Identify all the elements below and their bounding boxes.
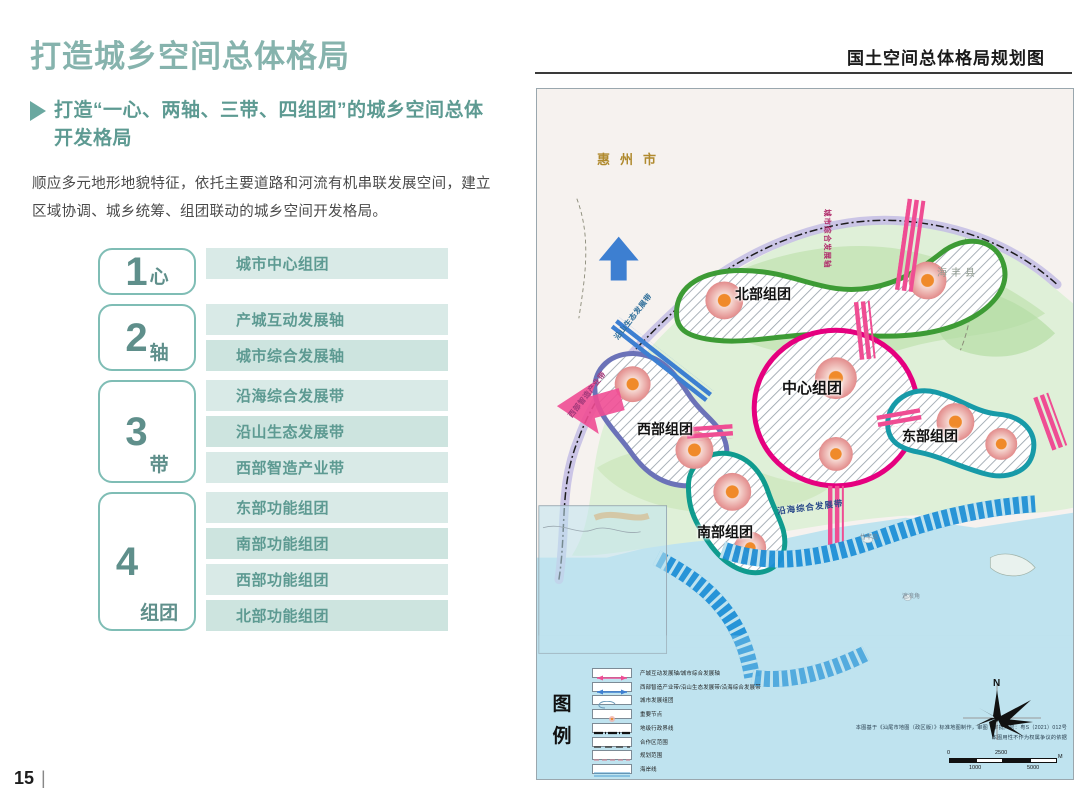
group-number: 2 <box>125 318 147 358</box>
scale-tick-5000: 5000 <box>1027 765 1039 771</box>
legend-label: 产城互动发展轴/城市综合发展轴 <box>640 669 720 677</box>
left-content-column: 打造城乡空间总体格局 打造“一心、两轴、三带、四组团”的城乡空间总体开发格局 顺… <box>0 0 530 810</box>
scale-bar-segment <box>1030 758 1057 763</box>
legend-row: 产城互动发展轴/城市综合发展轴 <box>592 666 870 680</box>
compass-rose-icon <box>945 678 1070 750</box>
body-paragraph: 顺应多元地形地貌特征，依托主要道路和河流有机串联发展空间，建立区域协调、城乡统筹… <box>32 170 497 227</box>
legend-label: 海岸线 <box>640 765 657 773</box>
group-row: 西部功能组团 <box>206 564 448 595</box>
pink-arrow-icon <box>593 674 631 682</box>
title-divider <box>535 72 1072 74</box>
black-dashdot-line-icon <box>593 729 631 737</box>
legend-row: 合作区范围 <box>592 735 870 749</box>
group-rows: 沿海综合发展带 沿山生态发展带 西部智造产业带 <box>206 380 448 483</box>
legend-swatch-group-outline <box>592 695 632 705</box>
group-rows: 产城互动发展轴 城市综合发展轴 <box>206 304 448 371</box>
group-rows: 城市中心组团 <box>206 248 448 295</box>
legend-row: 海岸线 <box>592 762 870 776</box>
group-row: 北部功能组团 <box>206 600 448 631</box>
group-number-box: 4 组团 <box>98 492 196 631</box>
group-unit: 带 <box>150 450 169 477</box>
group-item: 4 组团 东部功能组团 南部功能组团 西部功能组团 北部功能组团 <box>98 492 448 631</box>
scale-unit: M <box>1058 754 1063 760</box>
scale-tick-0: 0 <box>947 750 950 756</box>
legend-swatch-dash-gray <box>592 737 632 747</box>
group-unit: 心 <box>150 262 169 289</box>
scale-tick-1000: 1000 <box>969 765 981 771</box>
coastline-icon <box>593 770 631 778</box>
map-legend: 图 例 产城互动发展轴/城市综合发展轴 <box>540 660 870 782</box>
group-item: 2 轴 产城互动发展轴 城市综合发展轴 <box>98 304 448 371</box>
legend-row: 规划范围 <box>592 749 870 763</box>
compass-and-scale: N 0 2500 M 1000 5000 <box>945 678 1070 778</box>
legend-title: 图 例 <box>540 689 584 754</box>
legend-label: 地级行政界线 <box>640 724 674 732</box>
legend-items: 产城互动发展轴/城市综合发展轴 西部智造产业带/沿山生态发展带/沿海综合发展带 <box>592 666 870 776</box>
legend-title-char-2: 例 <box>540 721 584 753</box>
group-row: 沿海综合发展带 <box>206 380 448 411</box>
node-dot-icon <box>593 715 631 723</box>
group-number: 4 <box>116 542 138 582</box>
brochure-page: 打造城乡空间总体格局 打造“一心、两轴、三带、四组团”的城乡空间总体开发格局 顺… <box>0 0 1080 810</box>
group-row: 西部智造产业带 <box>206 452 448 483</box>
scale-bar-segment <box>976 758 1003 763</box>
group-number: 3 <box>125 412 147 452</box>
legend-row: 地级行政界线 <box>592 721 870 735</box>
group-row: 沿山生态发展带 <box>206 416 448 447</box>
legend-label: 重要节点 <box>640 710 662 718</box>
compass-north-label: N <box>993 678 1000 689</box>
legend-row: 西部智造产业带/沿山生态发展带/沿海综合发展带 <box>592 680 870 694</box>
page-number: 15| <box>14 768 46 789</box>
legend-label: 西部智造产业带/沿山生态发展带/沿海综合发展带 <box>640 683 761 691</box>
sub-heading-block: 打造“一心、两轴、三带、四组团”的城乡空间总体开发格局 <box>30 97 500 152</box>
page-number-divider: | <box>41 768 46 788</box>
legend-swatch-coastline <box>592 764 632 774</box>
legend-swatch-node-dot <box>592 709 632 719</box>
blue-arrow-icon <box>593 688 631 696</box>
legend-swatch-plan-extent <box>592 750 632 760</box>
structure-groups-list: 1 心 城市中心组团 2 轴 产城互动发展轴 城市综合发展轴 <box>98 248 448 640</box>
legend-label: 城市发展组团 <box>640 696 674 704</box>
group-rows: 东部功能组团 南部功能组团 西部功能组团 北部功能组团 <box>206 492 448 631</box>
group-number-box: 2 轴 <box>98 304 196 371</box>
map-title: 国土空间总体格局规划图 <box>847 44 1045 69</box>
legend-row: 城市发展组团 <box>592 693 870 707</box>
page-title: 打造城乡空间总体格局 <box>30 31 350 76</box>
group-row: 城市中心组团 <box>206 248 448 279</box>
legend-label: 规划范围 <box>640 751 662 759</box>
group-row: 城市综合发展轴 <box>206 340 448 371</box>
legend-swatch-arrow-pink <box>592 668 632 678</box>
plan-extent-icon <box>593 756 631 764</box>
legend-swatch-arrow-blue <box>592 682 632 692</box>
group-unit: 组团 <box>140 598 178 625</box>
group-unit: 轴 <box>150 338 169 365</box>
triangle-bullet-icon <box>30 101 46 121</box>
group-number-box: 1 心 <box>98 248 196 295</box>
legend-label: 合作区范围 <box>640 738 668 746</box>
group-number-box: 3 带 <box>98 380 196 483</box>
legend-swatch-dash-black <box>592 723 632 733</box>
group-outline-icon <box>593 701 631 709</box>
gray-dashed-line-icon <box>593 743 631 751</box>
group-row: 南部功能组团 <box>206 528 448 559</box>
group-row: 产城互动发展轴 <box>206 304 448 335</box>
page-number-value: 15 <box>14 768 34 788</box>
scale-tick-2500: 2500 <box>995 750 1007 756</box>
sub-heading-text: 打造“一心、两轴、三带、四组团”的城乡空间总体开发格局 <box>54 97 500 152</box>
legend-title-char-1: 图 <box>540 689 584 721</box>
group-row: 东部功能组团 <box>206 492 448 523</box>
group-item: 3 带 沿海综合发展带 沿山生态发展带 西部智造产业带 <box>98 380 448 483</box>
group-item: 1 心 城市中心组团 <box>98 248 448 295</box>
group-number: 1 <box>125 252 147 292</box>
legend-row: 重要节点 <box>592 707 870 721</box>
